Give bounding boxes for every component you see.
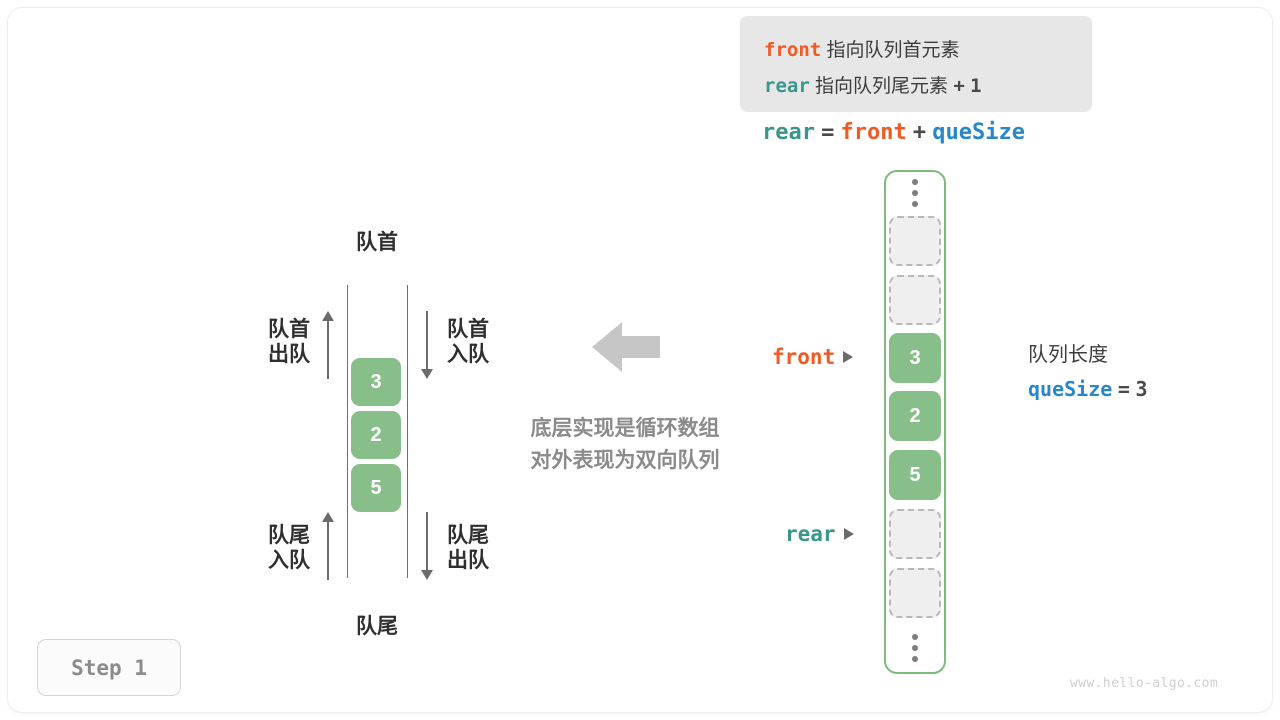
op-line: 出队 [447,548,489,573]
op-label-head-enqueue: 队首 入队 [447,317,489,367]
pointer-front-label: front [772,345,835,369]
deque-head-label: 队首 [347,226,407,256]
center-note-line: 底层实现是循环数组 [490,413,760,445]
legend-rear-plus: + [953,75,964,97]
legend-front-text: 指向队列首元素 [826,40,959,61]
arrow-down-icon [419,311,435,379]
array-slot [889,568,941,618]
formula-rear-equals: rear = front + queSize [762,121,1025,144]
formula-quesize: queSize [932,120,1025,145]
diagram-canvas: front 指向队列首元素 rear 指向队列尾元素 + 1 rear = fr… [0,0,1280,720]
arrow-down-icon [419,512,435,580]
pointer-arrow-icon [843,351,853,363]
quesize-var: queSize [1028,377,1112,401]
legend-rear-text: 指向队列尾元素 [815,76,948,97]
array-slot: 2 [889,391,941,441]
center-note: 底层实现是循环数组 对外表现为双向队列 [490,413,760,477]
deque-tail-label: 队尾 [347,610,407,640]
watermark: www.hello-algo.com [1070,676,1218,691]
op-line: 队首 [250,317,310,342]
queue-size-label: 队列长度 [1028,338,1148,372]
op-line: 出队 [250,342,310,367]
deque-cell: 2 [351,411,401,459]
op-label-tail-dequeue: 队尾 出队 [447,523,489,573]
array-slot: 5 [889,450,941,500]
deque-cell: 5 [351,464,401,512]
queue-size-note: 队列长度 queSize = 3 [1028,338,1148,407]
step-badge: Step 1 [37,639,181,696]
ellipsis-top-icon [889,173,941,213]
array-slot: 3 [889,333,941,383]
deque-rail-right [407,285,408,578]
legend-line-front: front 指向队列首元素 [764,41,960,60]
center-note-line: 对外表现为双向队列 [490,445,760,477]
arrow-up-icon [320,311,336,379]
legend-box: front 指向队列首元素 rear 指向队列尾元素 + 1 [740,16,1092,112]
pointer-front: front [772,345,853,369]
pointer-arrow-icon [844,528,854,540]
formula-front: front [840,120,906,145]
quesize-equals: = [1118,377,1130,401]
op-line: 队尾 [250,523,310,548]
queue-size-expression: queSize = 3 [1028,372,1148,407]
formula-plus: + [913,120,926,145]
array-slot [889,509,941,559]
formula-equals: = [821,120,834,145]
array-slot [889,216,941,266]
pointer-rear: rear [785,522,854,546]
formula-rear: rear [762,120,815,145]
legend-front-token: front [764,39,821,61]
op-line: 入队 [250,548,310,573]
op-label-head-dequeue: 队首 出队 [250,317,310,367]
deque-rail-left [347,285,348,578]
deque-cell: 3 [351,358,401,406]
arrow-up-icon [320,512,336,580]
ellipsis-bottom-icon [889,628,941,668]
legend-rear-one: 1 [970,75,981,97]
op-label-tail-enqueue: 队尾 入队 [250,523,310,573]
array-slot [889,275,941,325]
legend-line-rear: rear 指向队列尾元素 + 1 [764,77,982,96]
arrow-left-icon [592,320,660,374]
op-line: 队尾 [447,523,489,548]
op-line: 入队 [447,342,489,367]
pointer-rear-label: rear [785,522,836,546]
quesize-value: 3 [1135,377,1147,401]
op-line: 队首 [447,317,489,342]
legend-rear-token: rear [764,75,810,97]
